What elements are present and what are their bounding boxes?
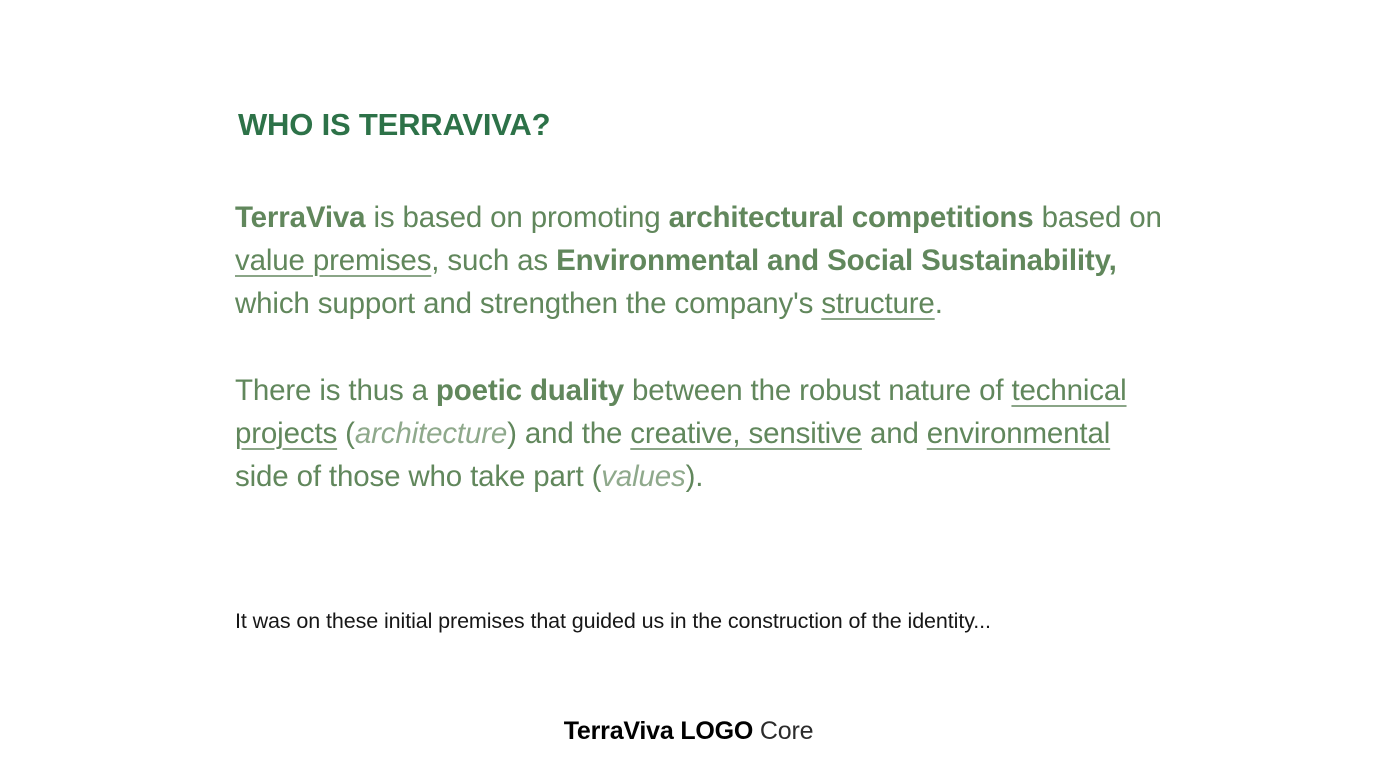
footer-logo-space — [753, 717, 760, 745]
footer-logo-light: Core — [760, 717, 813, 745]
italic-values: values — [601, 460, 685, 493]
p1-run-8: which support and strengthen the company… — [235, 287, 821, 320]
footer-logo-strong: TerraViva LOGO — [564, 717, 753, 745]
underline-value-premises: value premises — [235, 244, 431, 277]
underline-creative-sensitive: creative, sensitive — [630, 417, 862, 450]
p1-run-6: , such as — [431, 244, 556, 277]
p2-run-13: ). — [686, 460, 704, 493]
highlight-environmental-social-sustainability: Environmental and Social Sustainability, — [556, 244, 1117, 277]
p2-run-5: ( — [337, 417, 355, 450]
p2-run-3: between the robust nature of — [624, 374, 1011, 407]
p1-run-4: based on — [1034, 201, 1162, 234]
highlight-architectural-competitions: architectural competitions — [669, 201, 1034, 234]
slide-canvas: WHO IS TERRAVIVA? TerraViva is based on … — [0, 0, 1377, 775]
body-copy: TerraViva is based on promoting architec… — [235, 196, 1165, 498]
p2-run-9: and — [862, 417, 927, 450]
paragraph-one: TerraViva is based on promoting architec… — [235, 196, 1165, 325]
paragraph-two: There is thus a poetic duality between t… — [235, 369, 1165, 498]
p2-run-11: side of those who take part ( — [235, 460, 601, 493]
underline-environmental: environmental — [927, 417, 1110, 450]
p1-run-2: is based on promoting — [365, 201, 668, 234]
p1-run-10: . — [935, 287, 943, 320]
page-title: WHO IS TERRAVIVA? — [238, 107, 550, 143]
p2-run-1: There is thus a — [235, 374, 436, 407]
italic-architecture: architecture — [355, 417, 507, 450]
footer-logo: TerraViva LOGO Core — [0, 714, 1377, 748]
underline-structure: structure — [821, 287, 934, 320]
highlight-poetic-duality: poetic duality — [436, 374, 624, 407]
closing-note: It was on these initial premises that gu… — [235, 606, 1215, 636]
brand-name-terraviva: TerraViva — [235, 201, 365, 234]
p2-run-7: ) and the — [507, 417, 630, 450]
